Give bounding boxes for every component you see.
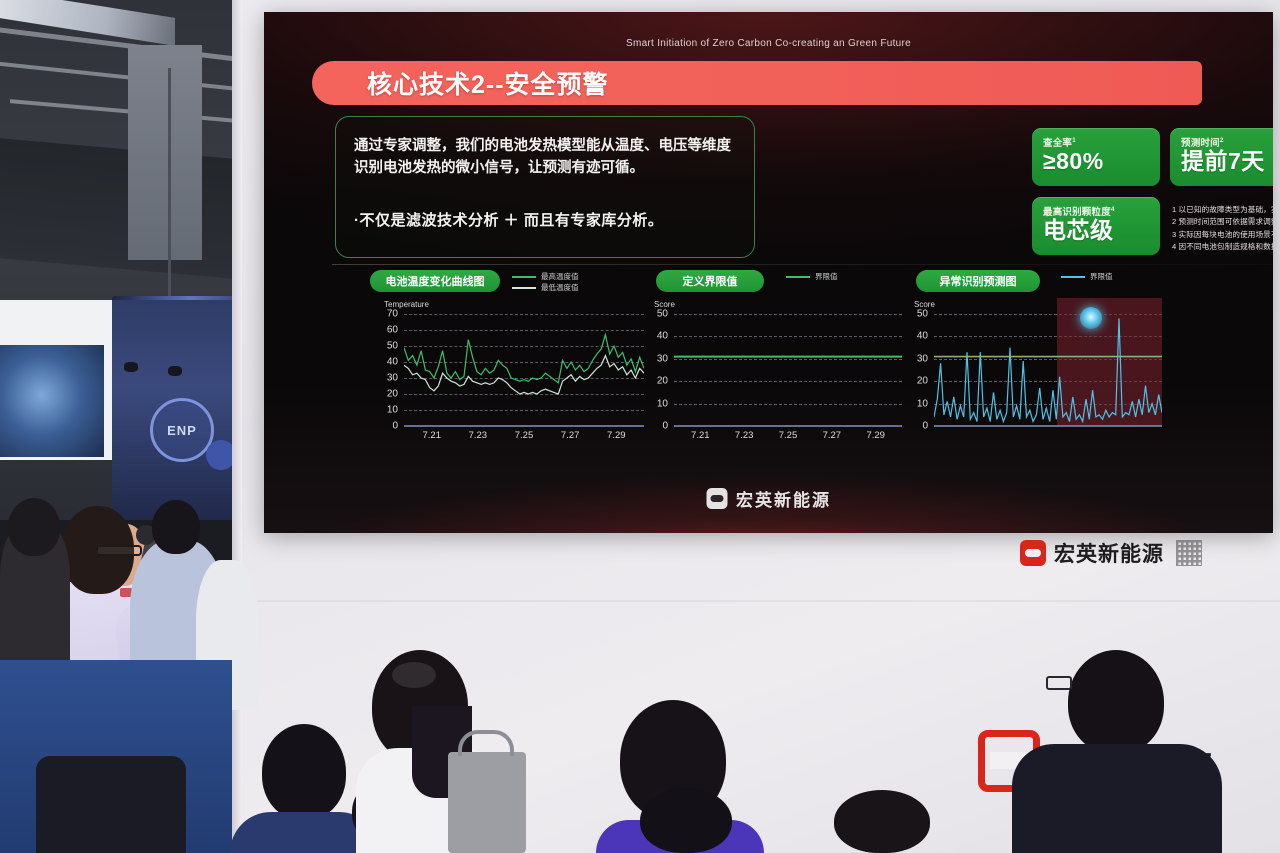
- projected-slide: Smart Initiation of Zero Carbon Co-creat…: [264, 12, 1273, 533]
- y-tick-label: 0: [640, 421, 668, 432]
- hall-pillar: [128, 45, 202, 260]
- y-tick-label: 60: [370, 325, 398, 336]
- audience-head: [834, 790, 930, 853]
- wall-brand-logo: 宏英新能源: [1020, 538, 1202, 568]
- footnote: 3 实际因每块电池的使用场景不同而有差异。: [1172, 229, 1273, 241]
- y-tick-label: 30: [900, 353, 928, 364]
- tote-bag: [448, 752, 526, 853]
- y-tick-label: 70: [370, 309, 398, 320]
- booth-panel-image: [0, 345, 104, 457]
- x-tick-label: 7.21: [422, 430, 441, 441]
- presenter-trousers-front: [36, 756, 186, 853]
- y-tick-label: 20: [900, 376, 928, 387]
- y-tick-label: 0: [900, 421, 928, 432]
- y-tick-label: 40: [900, 331, 928, 342]
- audience-head: [1068, 650, 1164, 754]
- qr-code-icon: [1176, 540, 1202, 566]
- x-tick-label: 7.21: [691, 430, 710, 441]
- y-tick-label: 40: [640, 331, 668, 342]
- brand-mark-icon: [706, 488, 727, 509]
- chart-defined-threshold: 定义界限值界限值Score010203040507.217.237.257.27…: [636, 270, 922, 470]
- footnote: 4 因不同电池包制造规格和数据质量而有不同。: [1172, 241, 1273, 253]
- y-tick-label: 50: [900, 309, 928, 320]
- spotlight-icon: [124, 362, 138, 372]
- chart-battery-temperature: 电池温度变化曲线图最高温度值最低温度值Temperature0102030405…: [362, 270, 664, 470]
- y-tick-label: 50: [370, 341, 398, 352]
- y-tick-label: 10: [370, 405, 398, 416]
- page-title: 核心技术2--安全预警: [367, 65, 609, 101]
- glasses-icon: [96, 545, 142, 556]
- chart-plot: [674, 270, 902, 430]
- x-tick-label: 7.29: [866, 430, 885, 441]
- footnote: 1 以已知的故障类型为基础，实际因场景和电池材料不同有区别。: [1172, 204, 1273, 216]
- y-tick-label: 50: [640, 309, 668, 320]
- chart-plot: [934, 270, 1162, 430]
- stat-value: 提前7天: [1181, 149, 1273, 175]
- slide-english-subtitle: Smart Initiation of Zero Carbon Co-creat…: [264, 38, 1273, 49]
- wall-brand-logo-text: 宏英新能源: [1054, 538, 1164, 568]
- y-tick-label: 20: [370, 389, 398, 400]
- series-line: [934, 319, 1162, 422]
- x-tick-label: 7.23: [469, 430, 488, 441]
- exhibition-hall-background: ENP 派: [0, 0, 268, 520]
- slide-footer-logo-text: 宏英新能源: [736, 486, 831, 511]
- slide-title-banner: 核心技术2--安全预警: [312, 61, 1202, 105]
- y-tick-label: 20: [640, 376, 668, 387]
- audience-shoulders: [1012, 744, 1222, 853]
- body-bullet: ·不仅是滤波技术分析 ＋ 而且有专家库分析。: [354, 209, 746, 230]
- stat-label: 预测时间2: [1181, 135, 1273, 149]
- stat-value: 电芯级: [1043, 218, 1150, 244]
- y-tick-label: 30: [370, 373, 398, 384]
- x-tick-label: 7.27: [561, 430, 580, 441]
- glasses-icon: [1046, 676, 1072, 690]
- stat-card-recall: 查全率1 ≥80%: [1032, 128, 1160, 186]
- x-tick-label: 7.23: [735, 430, 754, 441]
- stat-label: 查全率1: [1043, 135, 1150, 149]
- exhibition-presentation-scene: ENP 派 Smart Initiation of Zero Carbon Co…: [0, 0, 1280, 853]
- wall-seam: [242, 600, 1280, 602]
- stat-label: 最高识别颗粒度4: [1043, 204, 1150, 218]
- slide-content: Smart Initiation of Zero Carbon Co-creat…: [264, 12, 1273, 533]
- booth-logo: ENP: [150, 398, 214, 462]
- section-divider: [332, 264, 1273, 265]
- y-tick-label: 40: [370, 357, 398, 368]
- footnote-list: 1 以已知的故障类型为基础，实际因场景和电池材料不同有区别。 2 预测时间范围可…: [1172, 204, 1273, 253]
- stat-card-granularity: 最高识别颗粒度4 电芯级: [1032, 197, 1160, 255]
- spotlight-icon: [168, 366, 182, 376]
- y-tick-label: 0: [370, 421, 398, 432]
- x-tick-label: 7.25: [779, 430, 798, 441]
- audience-head: [262, 724, 346, 820]
- y-tick-label: 30: [640, 353, 668, 364]
- y-tick-label: 10: [640, 398, 668, 409]
- chart-plot: [404, 270, 644, 430]
- body-paragraph: 通过专家调整，我们的电池发热模型能从温度、电压等维度识别电池发热的微小信号，让预…: [354, 135, 744, 180]
- chart-anomaly-prediction: 异常识别预测图界限值Score01020304050: [896, 270, 1182, 470]
- wall-edge: [232, 0, 242, 853]
- x-tick-label: 7.29: [607, 430, 626, 441]
- slide-body-card: 通过专家调整，我们的电池发热模型能从温度、电压等维度识别电池发热的微小信号，让预…: [335, 116, 755, 258]
- series-line: [404, 335, 644, 383]
- x-tick-label: 7.27: [823, 430, 842, 441]
- bag-handle: [458, 730, 514, 756]
- x-tick-label: 7.25: [515, 430, 534, 441]
- footnote: 2 预测时间范围可依据需求调整，以实际结果为准。: [1172, 216, 1273, 228]
- brand-mark-icon: [1020, 540, 1046, 566]
- stat-card-lead-time: 预测时间2 提前7天: [1170, 128, 1273, 186]
- audience-head: [640, 788, 732, 853]
- y-tick-label: 10: [900, 398, 928, 409]
- background-attendee-head: [152, 500, 200, 554]
- hair-highlight: [392, 662, 436, 688]
- background-attendee-head: [8, 498, 60, 556]
- stat-value: ≥80%: [1043, 149, 1150, 175]
- slide-footer-logo: 宏英新能源: [706, 486, 831, 511]
